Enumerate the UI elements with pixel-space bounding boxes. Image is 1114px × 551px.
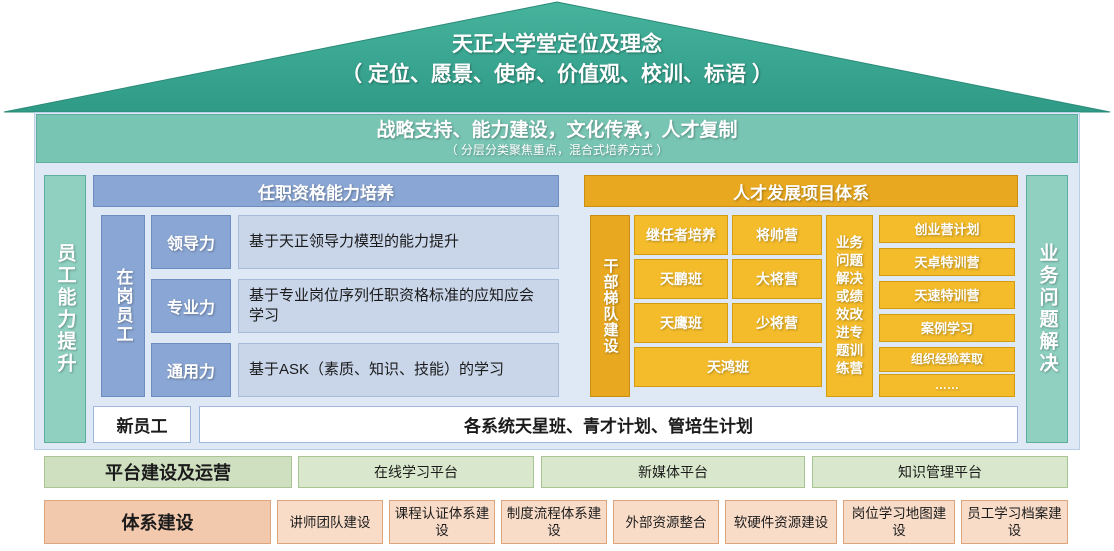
program-cell-case-study: 案例学习 bbox=[879, 314, 1015, 342]
capability-label-leadership: 领导力 bbox=[151, 215, 231, 269]
pillar-left-employee-capability: 员工能力提升 bbox=[44, 175, 86, 443]
system-item-learning-map: 岗位学习地图建设 bbox=[843, 500, 955, 544]
cadre-echelon-label: 干部梯队建设 bbox=[590, 215, 630, 397]
talent-cell-tianying: 天鹰班 bbox=[634, 303, 728, 343]
talent-cell-tianhong: 天鸿班 bbox=[634, 347, 822, 387]
diagram-root: 天正大学堂定位及理念 （ 定位、愿景、使命、价值观、校训、标语 ） 战略支持、能… bbox=[0, 0, 1114, 551]
capability-label-general: 通用力 bbox=[151, 343, 231, 397]
on-job-employee-label: 在岗员工 bbox=[101, 215, 145, 397]
capability-desc-general: 基于ASK（素质、知识、技能）的学习 bbox=[238, 343, 559, 397]
program-cell-startup-camp: 创业营计划 bbox=[879, 215, 1015, 243]
talent-cell-shaojiang: 少将营 bbox=[732, 303, 822, 343]
capability-desc-leadership: 基于天正领导力模型的能力提升 bbox=[238, 215, 559, 269]
platform-item-new-media: 新媒体平台 bbox=[541, 456, 805, 488]
system-item-hardware-software: 软硬件资源建设 bbox=[725, 500, 837, 544]
strategy-banner: 战略支持、能力建设，文化传承，人才复制 （ 分层分类聚焦重点，混合式培养方式 ） bbox=[36, 114, 1078, 163]
platform-item-online-learning: 在线学习平台 bbox=[298, 456, 534, 488]
talent-cell-dajiang: 大将营 bbox=[732, 259, 822, 299]
system-item-trainer-team: 讲师团队建设 bbox=[277, 500, 383, 544]
roof-title-line1: 天正大学堂定位及理念 bbox=[0, 30, 1114, 60]
pillar-right-business-problem: 业务问题解决 bbox=[1026, 175, 1068, 443]
new-employee-label: 新员工 bbox=[93, 406, 191, 443]
talent-cell-successor: 继任者培养 bbox=[634, 215, 728, 255]
program-cell-tianzhuo: 天卓特训营 bbox=[879, 248, 1015, 276]
system-title: 体系建设 bbox=[44, 500, 271, 544]
banner-line1: 战略支持、能力建设，文化传承，人才复制 bbox=[376, 119, 737, 142]
platform-item-knowledge-management: 知识管理平台 bbox=[812, 456, 1068, 488]
roof-title-line2: （ 定位、愿景、使命、价值观、校训、标语 ） bbox=[0, 60, 1114, 90]
program-cell-tiansu: 天速特训营 bbox=[879, 281, 1015, 309]
program-cell-experience-extraction: 组织经验萃取 bbox=[879, 347, 1015, 372]
banner-line2: （ 分层分类聚焦重点，混合式培养方式 ） bbox=[446, 142, 669, 158]
capability-desc-professional: 基于专业岗位序列任职资格标准的应知应会学习 bbox=[238, 279, 559, 333]
system-item-external-resources: 外部资源整合 bbox=[613, 500, 719, 544]
system-item-learning-record: 员工学习档案建设 bbox=[961, 500, 1068, 544]
program-cell-ellipsis: …… bbox=[879, 374, 1015, 397]
business-training-camp-label: 业务问题解决或绩效改进专题训练营 bbox=[826, 215, 873, 397]
roof-title: 天正大学堂定位及理念 （ 定位、愿景、使命、价值观、校训、标语 ） bbox=[0, 30, 1114, 90]
system-item-process-system: 制度流程体系建设 bbox=[501, 500, 607, 544]
roof-section: 天正大学堂定位及理念 （ 定位、愿景、使命、价值观、校训、标语 ） bbox=[0, 0, 1114, 112]
capability-label-professional: 专业力 bbox=[151, 279, 231, 333]
talent-cell-general-camp: 将帅营 bbox=[732, 215, 822, 255]
new-employee-programs: 各系统天星班、青才计划、管培生计划 bbox=[199, 406, 1018, 443]
system-item-course-certification: 课程认证体系建设 bbox=[389, 500, 495, 544]
talent-cell-tianpeng: 天鹏班 bbox=[634, 259, 728, 299]
right-block-header: 人才发展项目体系 bbox=[584, 175, 1018, 207]
platform-title: 平台建设及运营 bbox=[44, 456, 292, 488]
left-block-header: 任职资格能力培养 bbox=[93, 175, 559, 207]
